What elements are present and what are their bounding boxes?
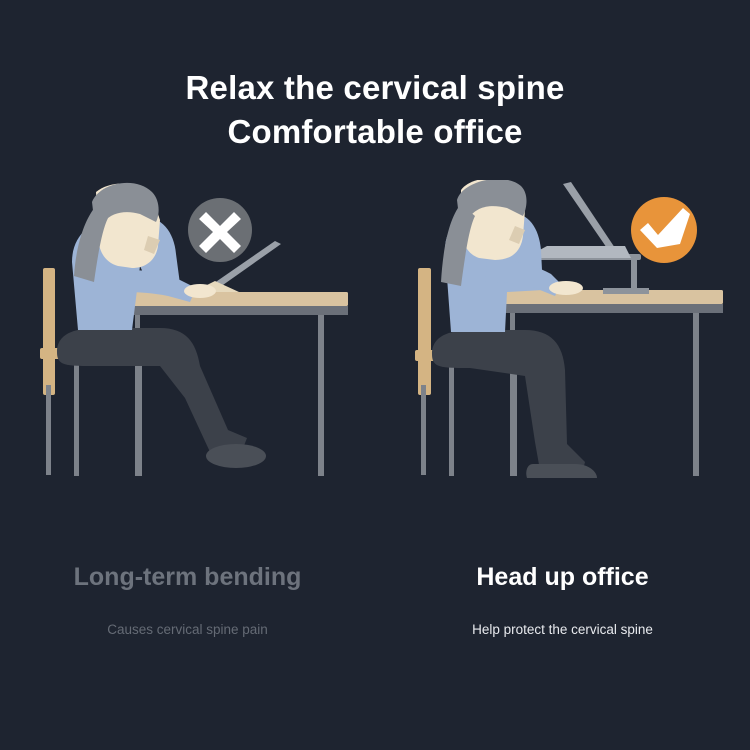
desk-leg-right: [693, 313, 699, 476]
hand: [184, 284, 216, 298]
desk-leg-right: [318, 315, 324, 476]
illustration-stage: [0, 180, 750, 520]
caption-sub-bad: Causes cervical spine pain: [0, 594, 375, 640]
legs-pants: [432, 330, 585, 478]
chair-front-leg-rear: [449, 360, 454, 476]
shoe: [206, 444, 266, 468]
desk-apron: [493, 304, 723, 313]
chair-backrest: [418, 268, 431, 395]
chair-front-leg-rear: [74, 358, 79, 476]
panel-bad-posture: [0, 180, 375, 520]
cross-badge: [185, 195, 255, 265]
chair-back-leg: [421, 385, 426, 475]
infographic-page: Relax the cervical spine Comfortable off…: [0, 0, 750, 750]
desk-top: [118, 292, 348, 306]
laptop-raised: [525, 182, 631, 258]
captions-row: Long-term bending Causes cervical spine …: [0, 560, 750, 670]
hand: [549, 281, 583, 295]
caption-good-posture: Head up office Help protect the cervical…: [375, 560, 750, 640]
headline-line-2: Comfortable office: [0, 110, 750, 154]
caption-title-good: Head up office: [375, 560, 750, 594]
chair-backrest: [43, 268, 55, 395]
check-badge: [628, 194, 700, 266]
stand-foot: [603, 288, 649, 294]
headline-line-1: Relax the cervical spine: [0, 66, 750, 110]
panel-good-posture: [375, 180, 750, 520]
caption-title-bad: Long-term bending: [0, 560, 375, 594]
legs-pants: [57, 328, 247, 456]
page-title: Relax the cervical spine Comfortable off…: [0, 66, 750, 154]
caption-sub-good: Help protect the cervical spine: [375, 594, 750, 640]
caption-bad-posture: Long-term bending Causes cervical spine …: [0, 560, 375, 640]
shoe: [526, 464, 597, 478]
desk-apron: [118, 306, 348, 315]
laptop-screen: [563, 182, 619, 254]
chair-back-leg: [46, 385, 51, 475]
